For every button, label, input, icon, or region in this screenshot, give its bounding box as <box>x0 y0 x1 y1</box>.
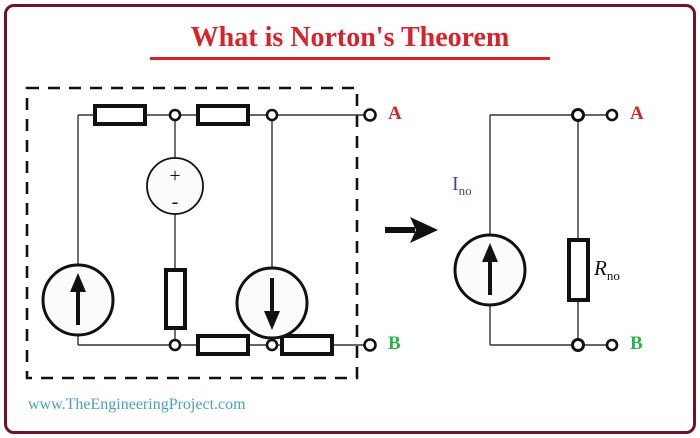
node-dot-right-top <box>573 110 584 121</box>
circuit-diagram: + - <box>0 70 700 390</box>
circuit-svg: + - <box>0 70 700 390</box>
resistor-bottom-right <box>282 336 332 354</box>
terminal-a-right-circuit[interactable] <box>607 110 617 120</box>
title-underline <box>150 57 550 60</box>
screenshot-root: What is Norton's Theorem <box>0 0 700 438</box>
norton-current-label: Ino <box>452 173 472 199</box>
terminal-label-b-left: B <box>388 333 401 355</box>
terminal-b-right-circuit[interactable] <box>607 340 617 350</box>
norton-resistance-label: Rno <box>594 256 620 284</box>
norton-resistor <box>569 240 588 300</box>
norton-current-symbol: I <box>452 173 459 195</box>
node-dot-bottom-right <box>267 340 277 350</box>
terminal-b-left-circuit[interactable] <box>365 340 376 351</box>
node-dot-right-bottom <box>573 340 584 351</box>
terminal-label-a-right: A <box>630 103 644 125</box>
node-dot-top-right <box>267 110 277 120</box>
terminal-label-a-left: A <box>388 103 402 125</box>
norton-resistance-subscript: no <box>607 268 620 283</box>
voltage-source-minus-sign: - <box>172 191 179 213</box>
terminal-a-left-circuit[interactable] <box>365 110 376 121</box>
norton-current-subscript: no <box>459 183 472 198</box>
node-dot-bottom-middle <box>170 340 180 350</box>
resistor-bottom-left <box>198 336 248 354</box>
page-title: What is Norton's Theorem <box>0 22 700 54</box>
resistor-top-left <box>95 106 145 124</box>
resistor-middle-vertical <box>166 270 185 328</box>
footer-url[interactable]: www.TheEngineeringProject.com <box>28 396 246 414</box>
norton-resistance-symbol: R <box>594 256 607 280</box>
resistor-top-right <box>198 106 248 124</box>
voltage-source-plus-sign: + <box>169 165 180 187</box>
terminal-label-b-right: B <box>630 333 643 355</box>
node-dot-top-middle <box>170 110 180 120</box>
